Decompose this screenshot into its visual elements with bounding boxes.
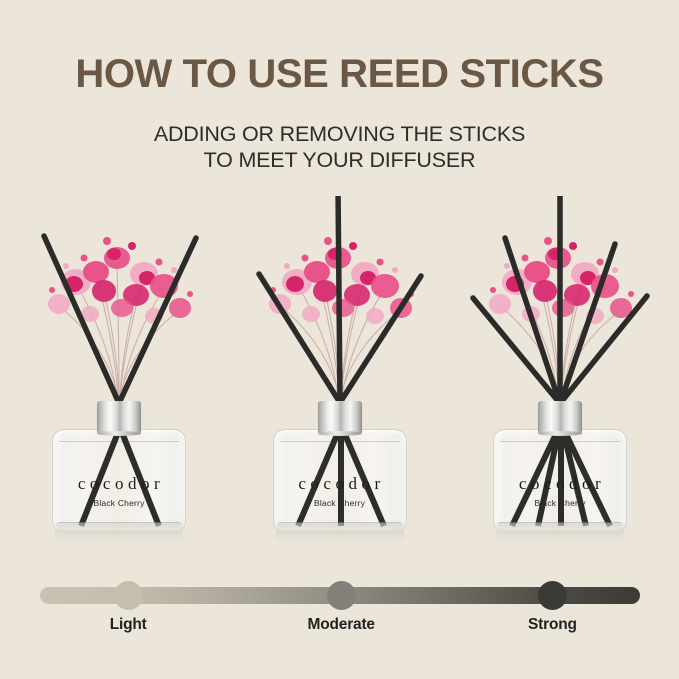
subtitle-line-1: ADDING OR REMOVING THE STICKS xyxy=(0,121,679,147)
page-subtitle: ADDING OR REMOVING THE STICKS TO MEET YO… xyxy=(0,97,679,173)
scent-label: Black Cherry xyxy=(494,498,626,508)
heading-block: HOW TO USE REED STICKS ADDING OR REMOVIN… xyxy=(0,0,679,173)
product-moderate: cocodor Black Cherry xyxy=(235,196,445,571)
slider-dot-light[interactable] xyxy=(114,581,143,610)
brand-label: cocodor xyxy=(494,474,626,494)
bottle-reflection xyxy=(276,530,404,560)
product-light: cocodor Black Cherry xyxy=(14,196,224,571)
slider-dot-strong[interactable] xyxy=(538,581,567,610)
brand-label: cocodor xyxy=(53,474,185,494)
diffuser-bottle-strong: cocodor Black Cherry xyxy=(493,401,627,533)
scent-label: Black Cherry xyxy=(274,498,406,508)
bottle-glass: cocodor Black Cherry xyxy=(273,429,407,533)
bottle-glass: cocodor Black Cherry xyxy=(493,429,627,533)
subtitle-line-2: TO MEET YOUR DIFFUSER xyxy=(0,147,679,173)
product-strong: cocodor Black Cherry xyxy=(455,196,665,571)
infographic-canvas: HOW TO USE REED STICKS ADDING OR REMOVIN… xyxy=(0,0,679,679)
bottle-reflection xyxy=(496,530,624,560)
intensity-slider[interactable]: LightModerateStrong xyxy=(0,571,679,679)
bottle-reflection xyxy=(55,530,183,560)
diffuser-bottle-moderate: cocodor Black Cherry xyxy=(273,401,407,533)
product-row: cocodor Black Cherry xyxy=(0,196,679,571)
slider-label-moderate: Moderate xyxy=(308,616,375,634)
slider-label-strong: Strong xyxy=(528,616,577,634)
bottle-collar xyxy=(97,401,141,433)
bottle-collar xyxy=(318,401,362,433)
reed-arrangement-strong xyxy=(455,196,665,411)
bottle-collar xyxy=(538,401,582,433)
slider-dot-moderate[interactable] xyxy=(327,581,356,610)
slider-label-light: Light xyxy=(110,616,147,634)
page-title: HOW TO USE REED STICKS xyxy=(0,0,679,97)
diffuser-bottle-light: cocodor Black Cherry xyxy=(52,401,186,533)
reed-arrangement-light xyxy=(14,196,224,411)
reed-arrangement-moderate xyxy=(235,196,445,411)
scent-label: Black Cherry xyxy=(53,498,185,508)
flower-cluster-light xyxy=(48,237,193,396)
bottle-glass: cocodor Black Cherry xyxy=(52,429,186,533)
brand-label: cocodor xyxy=(274,474,406,494)
